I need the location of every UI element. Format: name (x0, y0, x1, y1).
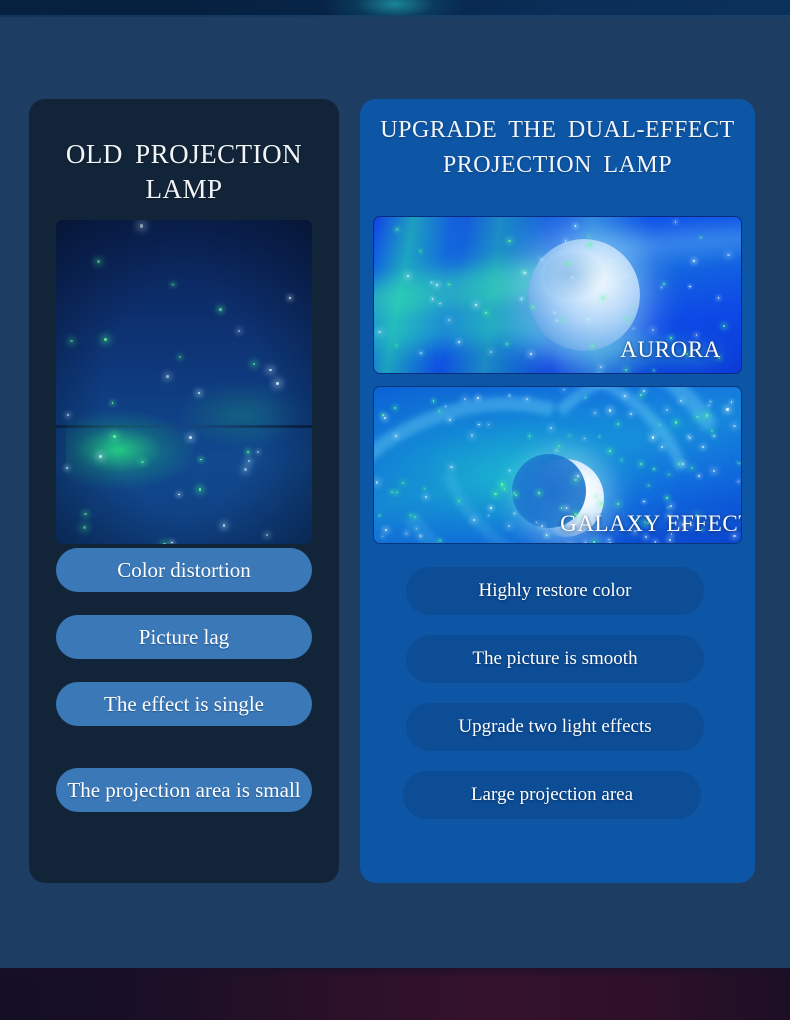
star (490, 507, 492, 509)
star (379, 515, 380, 516)
star (70, 340, 73, 343)
star (643, 501, 644, 502)
star (289, 297, 291, 299)
star (396, 345, 397, 346)
top-banner-strip (0, 0, 790, 17)
star (624, 395, 626, 397)
star (449, 419, 451, 421)
star (659, 424, 660, 425)
aurora-label: AURORA (620, 337, 721, 363)
star (439, 303, 440, 304)
star (84, 513, 86, 515)
new-lamp-card: UPGRADE THE DUAL-EFFECT PROJECTION LAMP … (360, 99, 755, 883)
star (384, 417, 386, 419)
star (652, 436, 655, 439)
star (633, 328, 634, 329)
star (713, 435, 714, 436)
moon-icon (528, 239, 640, 351)
new-feature-label: Upgrade two light effects (458, 716, 651, 738)
star (593, 541, 595, 543)
star (67, 414, 69, 416)
star (561, 507, 563, 509)
star (731, 401, 733, 403)
star (448, 284, 449, 285)
star (538, 492, 540, 494)
star (506, 343, 508, 345)
star (244, 468, 247, 471)
star (494, 493, 497, 496)
star (556, 450, 557, 451)
star (247, 451, 249, 453)
new-lamp-title: UPGRADE THE DUAL-EFFECT PROJECTION LAMP (378, 113, 737, 183)
star (521, 298, 522, 299)
new-feature-pill: Upgrade two light effects (406, 703, 704, 751)
star (189, 436, 192, 439)
star (431, 282, 432, 283)
star (501, 483, 504, 486)
star (536, 522, 537, 523)
top-strip-divider (0, 15, 790, 17)
new-feature-label: The picture is smooth (472, 648, 637, 670)
star (726, 408, 728, 410)
star (698, 475, 700, 477)
star (276, 382, 279, 385)
old-feature-pill: Color distortion (56, 548, 312, 592)
new-feature-pill: Highly restore color (406, 567, 704, 615)
old-feature-label: The projection area is small (67, 778, 300, 803)
star (733, 425, 735, 427)
star (490, 351, 492, 353)
old-feature-label: Picture lag (139, 625, 229, 650)
star (378, 331, 380, 333)
star (640, 463, 642, 465)
star (420, 352, 422, 354)
star (609, 409, 612, 412)
star (448, 319, 450, 321)
star (599, 436, 600, 437)
star (556, 320, 557, 321)
star (416, 528, 417, 529)
star (718, 297, 720, 299)
new-feature-pill: The picture is smooth (406, 635, 704, 683)
star (514, 513, 515, 514)
old-feature-label: Color distortion (117, 558, 251, 583)
star (391, 491, 393, 493)
star (569, 435, 570, 436)
star (737, 462, 738, 463)
star (682, 463, 684, 465)
old-feature-pill: Picture lag (56, 615, 312, 659)
star (394, 407, 396, 409)
old-feature-pill: The projection area is small (56, 768, 312, 812)
star (166, 375, 169, 378)
star (458, 341, 460, 343)
star (661, 287, 662, 288)
photo-vignette (56, 220, 312, 544)
star (99, 455, 102, 458)
star (589, 244, 591, 246)
star (608, 539, 610, 541)
old-lamp-title: OLD PROJECTION LAMP (43, 137, 325, 207)
star (696, 416, 699, 419)
star (83, 526, 86, 529)
old-feature-pill: The effect is single (56, 682, 312, 726)
star (663, 283, 665, 285)
star (450, 466, 452, 468)
old-feature-label: The effect is single (104, 692, 264, 717)
star (526, 398, 528, 400)
star (702, 446, 704, 448)
galaxy-effect-image: GALAXY EFFECT (373, 386, 742, 544)
star (689, 437, 691, 439)
star (653, 370, 654, 371)
star (575, 225, 577, 227)
star (565, 240, 567, 242)
star (219, 308, 222, 311)
star (609, 542, 611, 544)
star (609, 260, 611, 262)
new-feature-label: Large projection area (471, 784, 633, 806)
star (382, 414, 384, 416)
star (508, 240, 510, 242)
bottom-banner-strip (0, 968, 790, 1020)
star (591, 345, 593, 347)
star (66, 467, 68, 469)
star (595, 496, 596, 497)
star (594, 412, 596, 414)
star (706, 414, 708, 416)
star (140, 224, 143, 227)
star (572, 277, 573, 278)
aurora-effect-image: AURORA (373, 216, 742, 374)
star (163, 543, 166, 544)
comparison-page: OLD PROJECTION LAMP Color distortion Pic… (0, 0, 790, 1020)
new-feature-label: Highly restore color (478, 580, 631, 602)
star (515, 494, 517, 496)
star (420, 250, 421, 251)
star (199, 488, 202, 491)
star (666, 409, 668, 411)
star (668, 474, 670, 476)
star (689, 286, 690, 287)
galaxy-label: GALAXY EFFECT (560, 511, 742, 537)
old-lamp-card: OLD PROJECTION LAMP Color distortion Pic… (29, 99, 339, 883)
star (223, 524, 226, 527)
star (524, 272, 526, 274)
star (385, 529, 387, 531)
star (509, 395, 510, 396)
star (488, 515, 489, 516)
star (104, 338, 107, 341)
new-feature-pill: Large projection area (403, 771, 701, 819)
old-projection-lamp-photo (56, 220, 312, 544)
star (630, 413, 632, 415)
star (653, 468, 654, 469)
